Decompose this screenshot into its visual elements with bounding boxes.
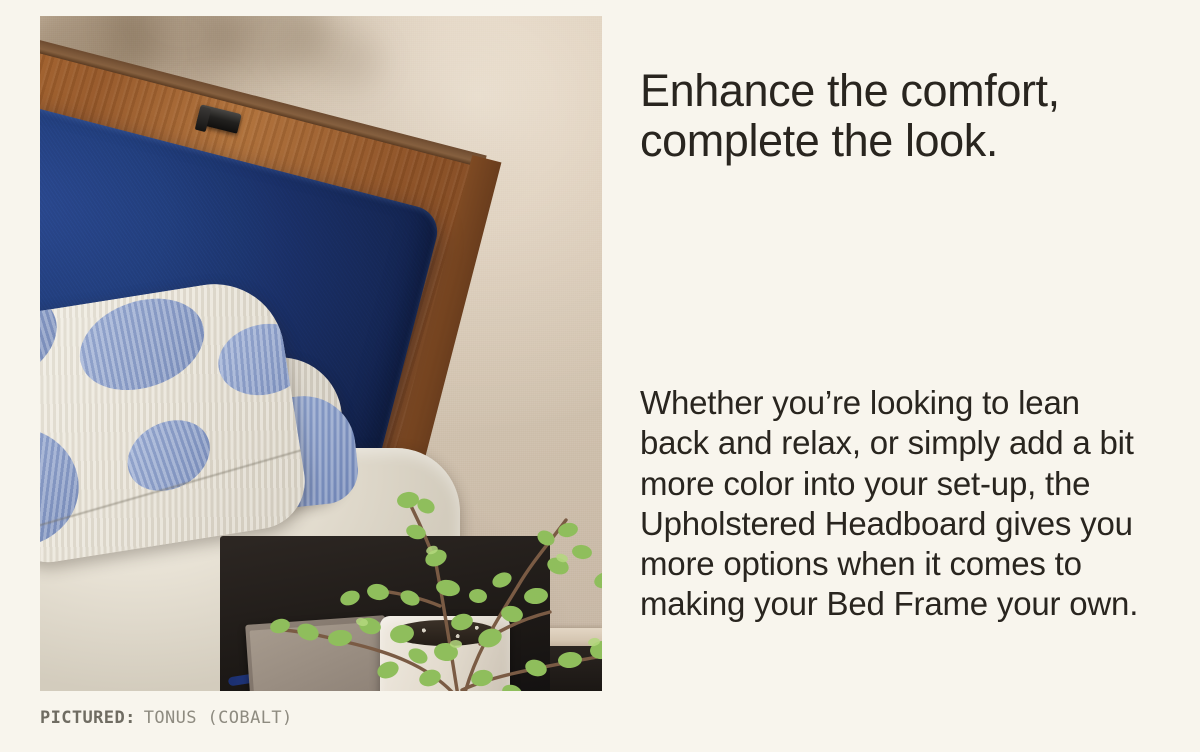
body-copy: Whether you’re looking to lean back and … bbox=[640, 383, 1156, 625]
front-pillow bbox=[40, 274, 312, 568]
notebook bbox=[245, 615, 391, 691]
caption-value: TONUS (COBALT) bbox=[144, 708, 293, 728]
copy-column: Enhance the comfort, complete the look. … bbox=[640, 0, 1170, 752]
photo-caption: PICTURED:TONUS (COBALT) bbox=[40, 708, 293, 728]
caption-label: PICTURED: bbox=[40, 708, 136, 728]
product-photo bbox=[40, 16, 602, 691]
product-promo-card: PICTURED:TONUS (COBALT) Enhance the comf… bbox=[0, 0, 1200, 752]
product-photo-container bbox=[40, 16, 602, 691]
pillow-pattern-blob bbox=[40, 426, 80, 548]
plant-soil bbox=[392, 620, 498, 646]
pillow-pattern-blob bbox=[115, 407, 222, 505]
headline: Enhance the comfort, complete the look. bbox=[640, 66, 1160, 166]
